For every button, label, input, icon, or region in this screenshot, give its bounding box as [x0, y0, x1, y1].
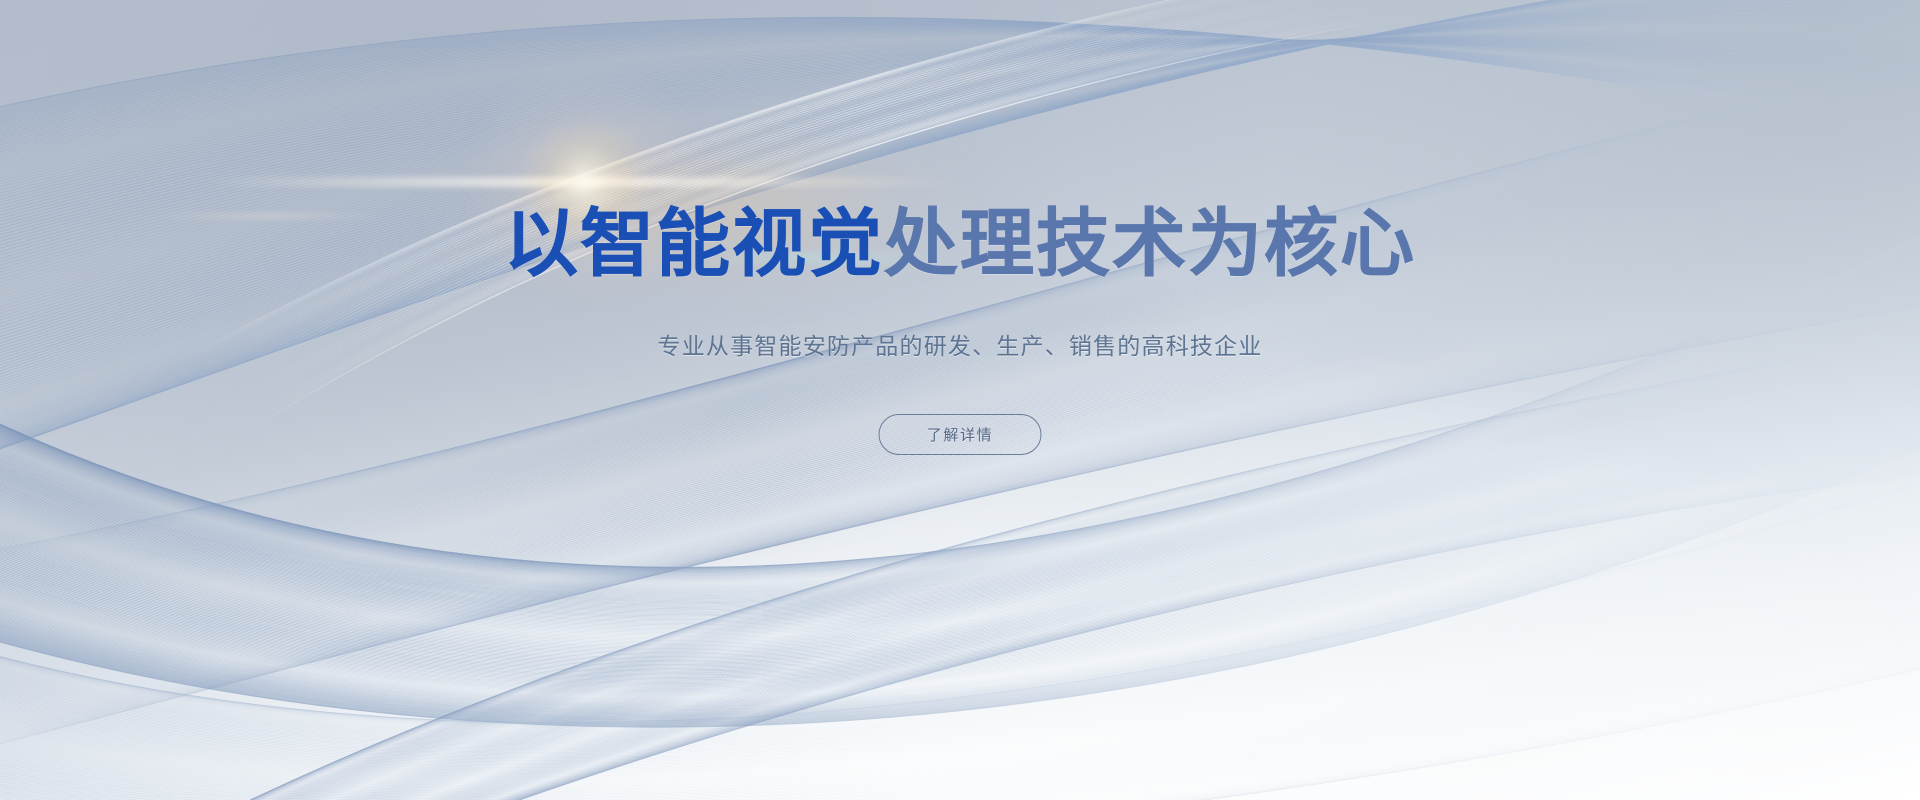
hero-banner: 以智能视觉处理技术为核心 专业从事智能安防产品的研发、生产、销售的高科技企业 了…: [0, 0, 1920, 800]
page-title: 以智能视觉处理技术为核心: [504, 207, 1416, 281]
learn-more-button[interactable]: 了解详情: [879, 414, 1042, 455]
wave-mesh-lower: [0, 0, 1920, 800]
headline-muted: 处理技术为核心: [884, 201, 1416, 287]
headline-accent: 以智能视觉: [504, 201, 884, 287]
page-subtitle: 专业从事智能安防产品的研发、生产、销售的高科技企业: [658, 327, 1263, 361]
